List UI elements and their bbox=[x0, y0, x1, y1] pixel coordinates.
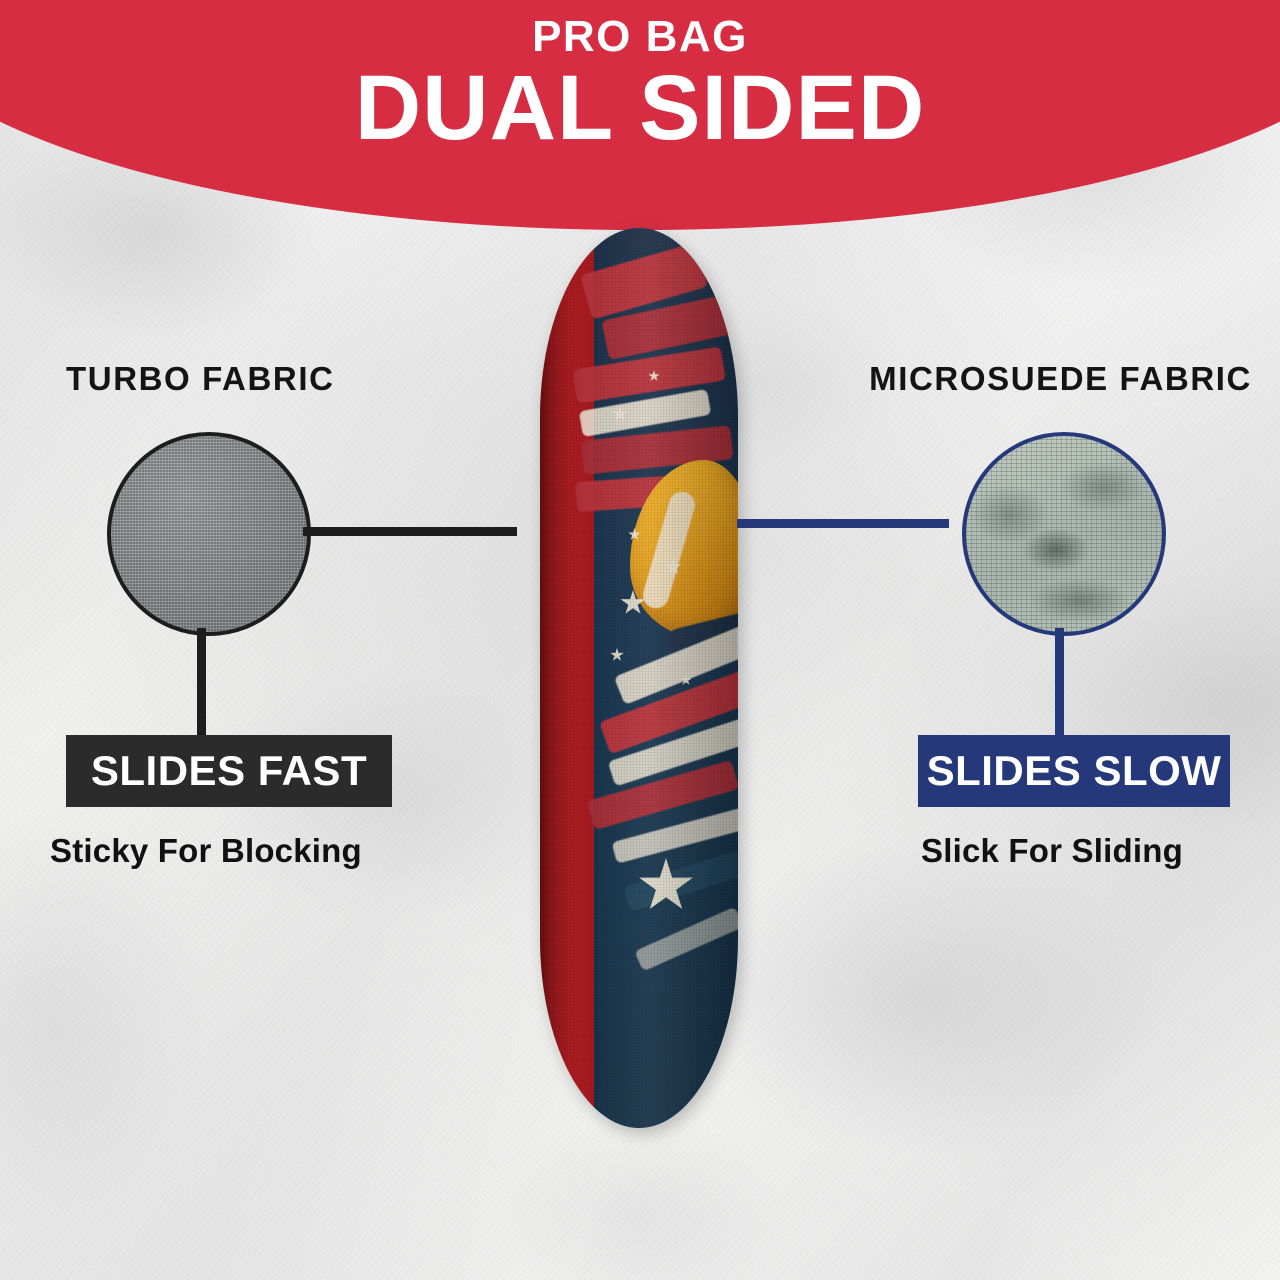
product-infographic: PRO BAG DUAL SIDED bbox=[0, 0, 1280, 1280]
slides-slow-badge: SLIDES SLOW bbox=[918, 735, 1230, 807]
turbo-fabric-heading: TURBO FABRIC bbox=[66, 360, 335, 398]
microsuede-fabric-heading: MICROSUEDE FABRIC bbox=[869, 360, 1252, 398]
turbo-fabric-swatch-icon bbox=[107, 432, 311, 636]
microsuede-fabric-subtext: Slick For Sliding bbox=[921, 832, 1183, 870]
bag-shading bbox=[540, 228, 738, 1128]
header-title: DUAL SIDED bbox=[0, 62, 1280, 154]
header-kicker: PRO BAG bbox=[0, 14, 1280, 60]
slides-fast-badge: SLIDES FAST bbox=[66, 735, 392, 807]
turbo-connector-vertical bbox=[197, 628, 206, 740]
microsuede-connector-vertical bbox=[1055, 628, 1064, 740]
microsuede-fabric-swatch-icon bbox=[962, 432, 1166, 636]
turbo-fabric-subtext: Sticky For Blocking bbox=[50, 832, 362, 870]
cornhole-bag-image bbox=[540, 228, 738, 1128]
microsuede-connector-horizontal bbox=[737, 519, 949, 528]
turbo-connector-horizontal bbox=[303, 527, 517, 536]
header-text-block: PRO BAG DUAL SIDED bbox=[0, 14, 1280, 154]
